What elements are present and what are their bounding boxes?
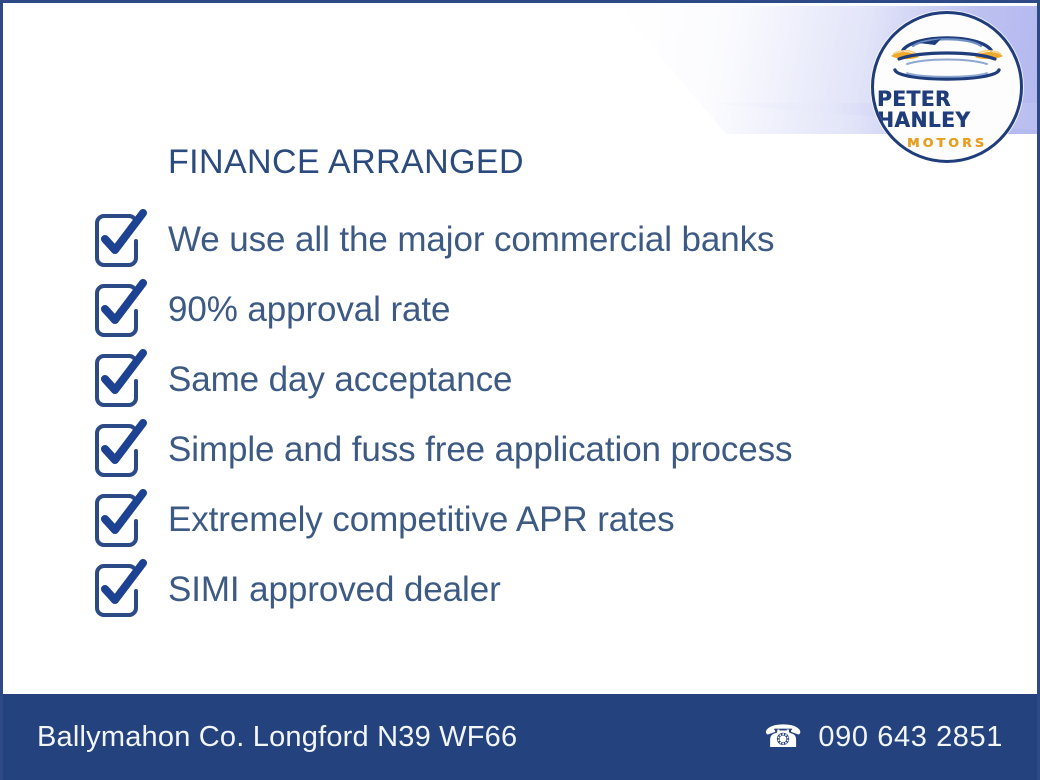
checkbox-checked-icon <box>91 281 153 337</box>
footer-address: Ballymahon Co. Longford N39 WF66 <box>37 721 517 754</box>
checkbox-checked-icon <box>91 351 153 407</box>
checkbox-checked-icon <box>91 561 153 617</box>
list-item: 90% approval rate <box>91 274 1037 344</box>
list-item: We use all the major commercial banks <box>91 204 1037 274</box>
list-item-label: Extremely competitive APR rates <box>168 502 675 537</box>
page-title: FINANCE ARRANGED <box>168 143 1037 182</box>
footer-phone-number[interactable]: 090 643 2851 <box>818 721 1003 754</box>
benefits-list: We use all the major commercial banks 90… <box>91 204 1037 624</box>
list-item: Extremely competitive APR rates <box>91 484 1037 554</box>
list-item-label: Same day acceptance <box>168 362 512 397</box>
checkbox-checked-icon <box>91 211 153 267</box>
footer-contact-bar: Ballymahon Co. Longford N39 WF66 ☎ 090 6… <box>3 694 1040 780</box>
list-item-label: We use all the major commercial banks <box>168 222 774 257</box>
list-item: Same day acceptance <box>91 344 1037 414</box>
finance-advert-card: PETER HANLEY MOTORS FINANCE ARRANGED We … <box>0 0 1040 780</box>
checkbox-checked-icon <box>91 421 153 477</box>
footer-phone-group[interactable]: ☎ 090 643 2851 <box>764 721 1003 754</box>
list-item-label: 90% approval rate <box>168 292 450 327</box>
list-item-label: SIMI approved dealer <box>168 572 501 607</box>
list-item: SIMI approved dealer <box>91 554 1037 624</box>
checkbox-checked-icon <box>91 491 153 547</box>
list-item-label: Simple and fuss free application process <box>168 432 792 467</box>
telephone-icon: ☎ <box>764 722 803 753</box>
advert-content: FINANCE ARRANGED We use all the major co… <box>3 3 1037 624</box>
list-item: Simple and fuss free application process <box>91 414 1037 484</box>
